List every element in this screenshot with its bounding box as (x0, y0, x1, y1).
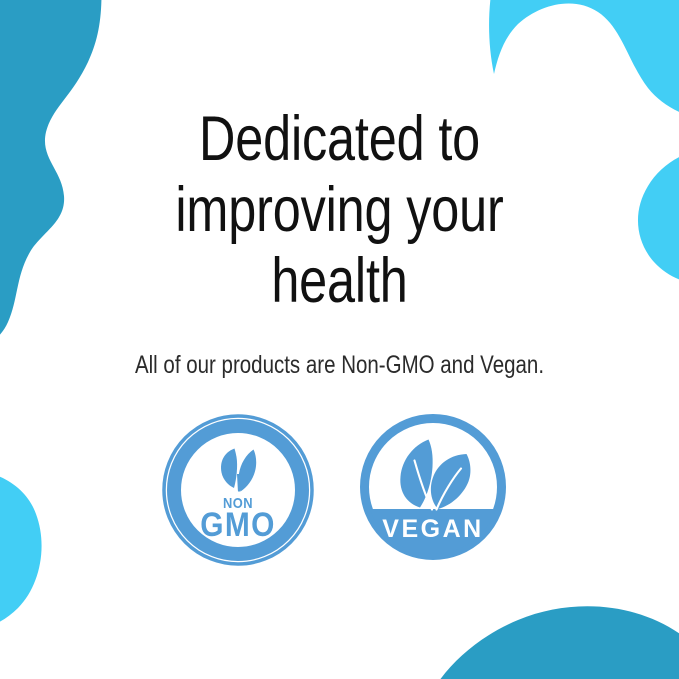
two-leaves-icon (400, 440, 470, 510)
non-gmo-large-label: GMO (200, 505, 275, 543)
promo-graphic: Dedicated to improving your health All o… (0, 0, 679, 679)
headline-line-3: health (68, 246, 611, 317)
sprout-leaves-icon (221, 449, 256, 492)
headline-line-1: Dedicated to (68, 104, 611, 175)
right-edge-lobe-blob (638, 146, 679, 284)
page-headline: Dedicated to improving your health (68, 104, 611, 317)
vegan-badge: VEGAN (358, 412, 508, 562)
subtitle-text: All of our products are Non-GMO and Vega… (61, 350, 618, 380)
bottom-right-blob (420, 606, 679, 679)
certification-badges: NON GMO (0, 412, 679, 582)
vegan-label: VEGAN (382, 515, 483, 543)
headline-line-2: improving your (68, 175, 611, 246)
non-gmo-badge-graphic: NON GMO (160, 412, 316, 568)
non-gmo-badge: NON GMO (160, 412, 316, 568)
vegan-badge-graphic: VEGAN (358, 412, 508, 562)
